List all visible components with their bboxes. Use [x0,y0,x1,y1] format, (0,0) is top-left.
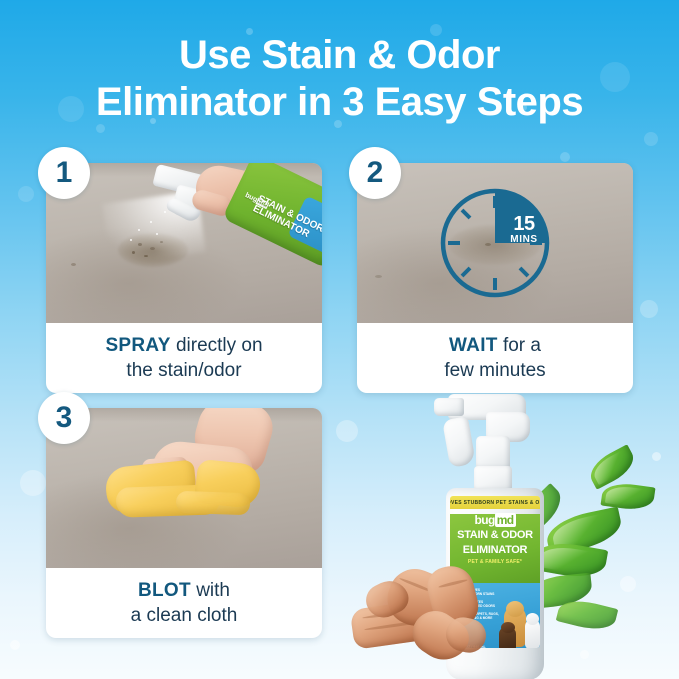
brand-primary: bug [474,513,494,527]
step-1-caption-line-2: the stain/odor [126,358,241,383]
page-title: Use Stain & Odor Eliminator in 3 Easy St… [0,32,679,126]
step-1-caption-rest: directly on [171,335,263,356]
step-1-photo: bugmd STAIN & ODORELIMINATOR [46,163,322,323]
step-badge-2-number: 2 [367,158,384,188]
step-3-caption-line-2: a clean cloth [131,603,238,628]
title-line-1: Use Stain & Odor [0,32,679,79]
step-card-3: BLOT with a clean cloth [46,408,322,638]
step-card-2: 15 MINS WAIT for a few minutes [357,163,633,393]
step-badge-1: 1 [38,147,90,199]
clock-graphic: 15 MINS [436,184,554,302]
product-brand: bugmd [450,514,540,526]
step-1-caption: SPRAY directly on the stain/odor [46,323,322,393]
step-3-photo [46,408,322,568]
step-2-caption: WAIT for a few minutes [357,323,633,393]
step-1-caption-line-1: SPRAY directly on [105,333,262,358]
product-name-line-1: STAIN & ODOR [450,530,540,541]
product-top-band: REMOVES STUBBORN PET STAINS & ODORS [450,496,540,509]
step-badge-3: 3 [38,392,90,444]
brand-secondary: md [495,513,516,527]
step-2-caption-line-2: few minutes [444,358,545,383]
clock-unit: MINS [502,234,546,246]
product-tagline: PET & FAMILY SAFE* [450,559,540,565]
step-3-caption: BLOT with a clean cloth [46,568,322,638]
pets-photo [496,591,540,648]
title-line-2: Eliminator in 3 Easy Steps [0,79,679,126]
step-badge-1-number: 1 [56,158,73,188]
step-badge-3-number: 3 [56,403,73,433]
step-1-keyword: SPRAY [105,335,170,356]
step-2-caption-line-1: WAIT for a [449,333,541,358]
step-3-keyword: BLOT [138,580,191,601]
step-2-photo: 15 MINS [357,163,633,323]
product-top-band-text: REMOVES STUBBORN PET STAINS & ODORS [450,500,540,506]
step-badge-2: 2 [349,147,401,199]
step-2-keyword: WAIT [449,335,498,356]
product-name-line-2: ELIMINATOR [450,545,540,556]
step-3-caption-rest: with [191,580,230,601]
step-card-1: bugmd STAIN & ODORELIMINATOR SPRAY direc… [46,163,322,393]
infographic-canvas: Use Stain & Odor Eliminator in 3 Easy St… [0,0,679,679]
clock-value: 15 [502,214,546,234]
step-2-caption-rest: for a [498,335,541,356]
step-3-caption-line-1: BLOT with [138,578,230,603]
